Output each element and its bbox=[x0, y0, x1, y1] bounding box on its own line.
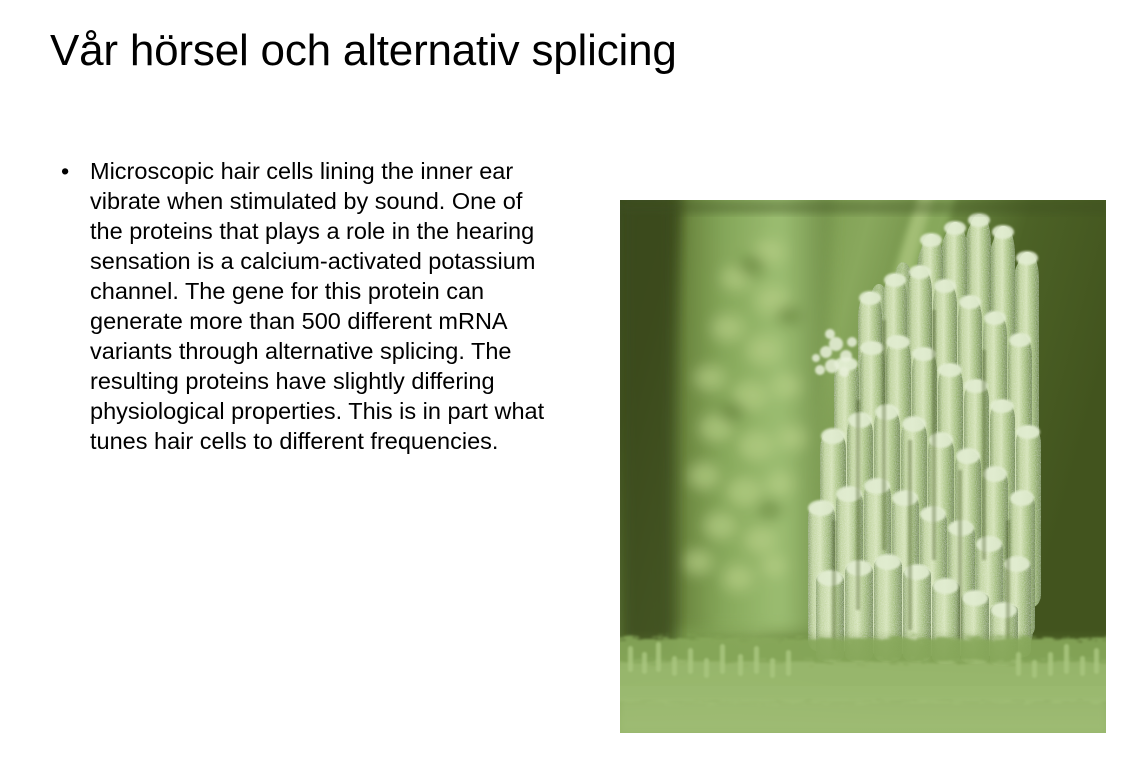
background-hair-cell bbox=[664, 200, 832, 630]
stereocilia-micrograph-image bbox=[620, 200, 1106, 733]
page-title: Vår hörsel och alternativ splicing bbox=[50, 23, 1070, 79]
list-item: • Microscopic hair cells lining the inne… bbox=[54, 156, 554, 456]
presentation-slide: Vår hörsel och alternativ splicing • Mic… bbox=[0, 0, 1126, 766]
bullet-text: Microscopic hair cells lining the inner … bbox=[90, 156, 554, 456]
stereocilia-illustration bbox=[620, 200, 1106, 733]
bullet-icon: • bbox=[61, 156, 69, 186]
apical-surface-floor bbox=[620, 630, 1106, 733]
body-text-block: • Microscopic hair cells lining the inne… bbox=[54, 156, 554, 456]
